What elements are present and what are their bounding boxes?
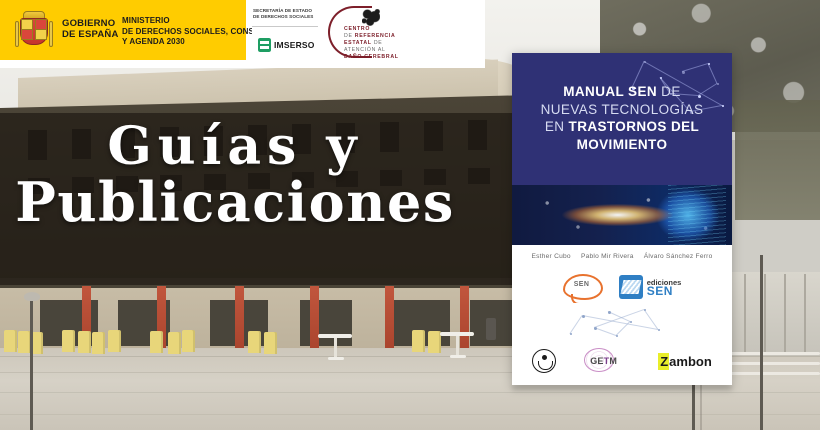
- book-publisher-logos: SEN ediciones SEN: [512, 267, 732, 307]
- zambon-initial: Z: [658, 353, 669, 370]
- network-edge: [682, 63, 708, 72]
- network-edge: [708, 63, 718, 83]
- sen-logo-icon: SEN: [563, 272, 603, 302]
- book-author-1: Esther Cubo: [531, 253, 570, 260]
- book-authors: Esther Cubo Pablo Mir Rivera Álvaro Sánc…: [512, 253, 732, 260]
- book-cover[interactable]: MANUAL SEN DE NUEVAS TECNOLOGÍAS EN TRAS…: [512, 53, 732, 385]
- book-stack-icon: [619, 275, 643, 299]
- glass-mullion: [764, 274, 766, 354]
- lamp-post: [760, 255, 763, 430]
- paving-seam: [0, 414, 820, 415]
- spain-coat-of-arms-icon: [14, 9, 54, 53]
- zambon-label: ambon: [669, 354, 712, 369]
- red-column: [460, 286, 469, 348]
- book-author-2: Pablo Mir Rivera: [581, 253, 634, 260]
- ceadac-splatter-icon: [362, 9, 380, 26]
- ceadac-label: CENTRO DE REFERENCIA ESTATAL DE ATENCIÓN…: [344, 26, 436, 61]
- glass-mullion: [804, 274, 806, 354]
- paving-seam: [0, 392, 820, 393]
- page-title: Guías y Publicaciones: [0, 120, 470, 230]
- network-node: [722, 105, 724, 107]
- book-title: MANUAL SEN DE NUEVAS TECNOLOGÍAS EN TRAS…: [522, 83, 722, 153]
- page-title-line-2: Publicaciones: [0, 175, 470, 230]
- network-edge: [594, 327, 616, 336]
- imserso-logo-icon: [258, 38, 271, 52]
- institutional-header: GOBIERNO DE ESPAÑA MINISTERIO DE DERECHO…: [0, 0, 485, 68]
- ministerio-label: MINISTERIO DE DERECHOS SOCIALES, CONSUMO…: [122, 16, 273, 48]
- glass-mullion: [784, 274, 786, 354]
- book-sponsor-logos: GETM Zambon: [512, 345, 732, 377]
- book-cover-neural-image: [512, 185, 732, 245]
- red-column: [235, 286, 244, 348]
- outdoor-chair: [108, 330, 121, 352]
- sen-label: SEN: [647, 287, 682, 296]
- red-column: [310, 286, 319, 348]
- lamp-head: [24, 292, 40, 301]
- imserso-label: IMSERSO: [274, 40, 315, 50]
- page-canvas: Guías y Publicaciones GOBIERNO DE ESPAÑA…: [0, 0, 820, 430]
- glass-mullion: [744, 274, 746, 354]
- sen-logo-label: SEN: [574, 281, 590, 288]
- table-leg: [334, 338, 337, 358]
- book-author-3: Álvaro Sánchez Ferro: [644, 253, 713, 260]
- outdoor-chair: [4, 330, 17, 352]
- book-cover-top: MANUAL SEN DE NUEVAS TECNOLOGÍAS EN TRAS…: [512, 53, 732, 185]
- outdoor-chair: [62, 330, 75, 352]
- table-leg: [456, 336, 459, 356]
- red-column: [385, 286, 394, 348]
- outdoor-chair: [182, 330, 195, 352]
- outdoor-chair: [168, 332, 181, 354]
- network-nodes-decoration-bottom: [512, 303, 732, 349]
- book-cover-bottom: GETM Zambon: [512, 303, 732, 385]
- who-figure-icon: [532, 349, 556, 373]
- ground-window: [300, 300, 352, 346]
- getm-label: GETM: [590, 356, 617, 366]
- trees-foliage-right: [735, 100, 820, 220]
- waste-bin: [486, 318, 496, 340]
- gobierno-de-espana-label: GOBIERNO DE ESPAÑA: [62, 18, 119, 40]
- outdoor-chair: [78, 331, 91, 353]
- page-title-line-1: Guías y: [0, 120, 470, 173]
- imserso-logo: IMSERSO: [258, 38, 315, 52]
- outdoor-chair: [92, 332, 105, 354]
- outdoor-chair: [264, 332, 277, 354]
- ceadac-logo: CENTRO DE REFERENCIA ESTATAL DE ATENCIÓN…: [326, 4, 438, 62]
- book-shadow: [512, 385, 732, 390]
- header-divider: [252, 26, 318, 27]
- getm-logo: GETM: [584, 348, 630, 374]
- table-base: [328, 357, 344, 360]
- outdoor-chair: [150, 331, 163, 353]
- network-edge: [570, 315, 583, 334]
- network-node: [658, 329, 660, 331]
- zambon-logo: Zambon: [658, 353, 712, 370]
- lamp-post: [30, 300, 33, 430]
- outdoor-chair: [412, 330, 425, 352]
- table-base: [450, 355, 466, 358]
- secretaria-label: SECRETARÍA DE ESTADO DE DERECHOS SOCIALE…: [253, 8, 325, 20]
- ediciones-sen-logo: ediciones SEN: [619, 275, 682, 299]
- outdoor-chair: [248, 331, 261, 353]
